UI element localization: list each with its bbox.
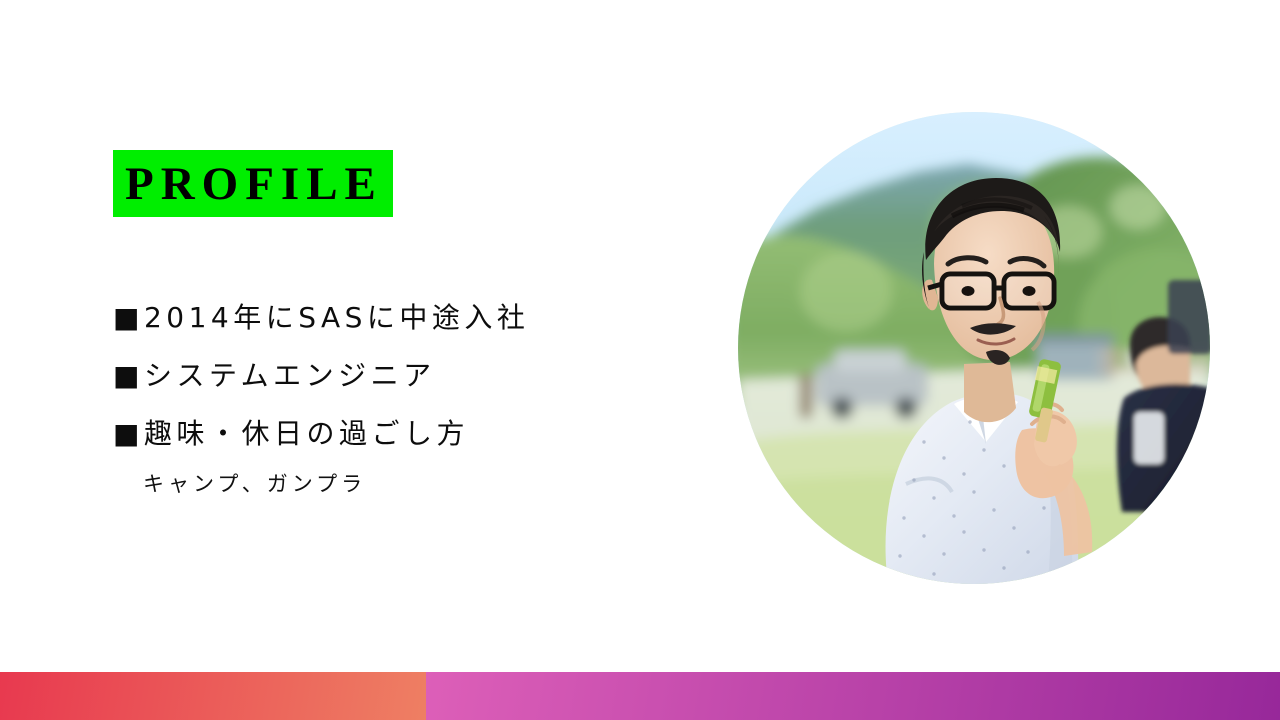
list-item: ■趣味・休日の過ごし方: [113, 405, 713, 463]
profile-bullet-list: ■2014年にSASに中途入社 ■システムエンジニア ■趣味・休日の過ごし方 キ…: [113, 289, 713, 503]
accent-bar-segment-pink: [426, 672, 1280, 720]
profile-text-block: PROFILE ■2014年にSASに中途入社 ■システムエンジニア ■趣味・休…: [113, 150, 713, 503]
list-sub-item: キャンプ、ガンプラ: [143, 465, 713, 503]
avatar: [738, 112, 1210, 584]
list-item: ■2014年にSASに中途入社: [113, 289, 713, 347]
slide-canvas: PROFILE ■2014年にSASに中途入社 ■システムエンジニア ■趣味・休…: [0, 0, 1280, 720]
bottom-accent-bar: [0, 672, 1280, 720]
title-wrapper: PROFILE: [113, 150, 713, 217]
list-item: ■システムエンジニア: [113, 347, 713, 405]
portrait-photo-image: [738, 112, 1210, 584]
page-title: PROFILE: [113, 150, 393, 217]
accent-bar-segment-red: [0, 672, 426, 720]
